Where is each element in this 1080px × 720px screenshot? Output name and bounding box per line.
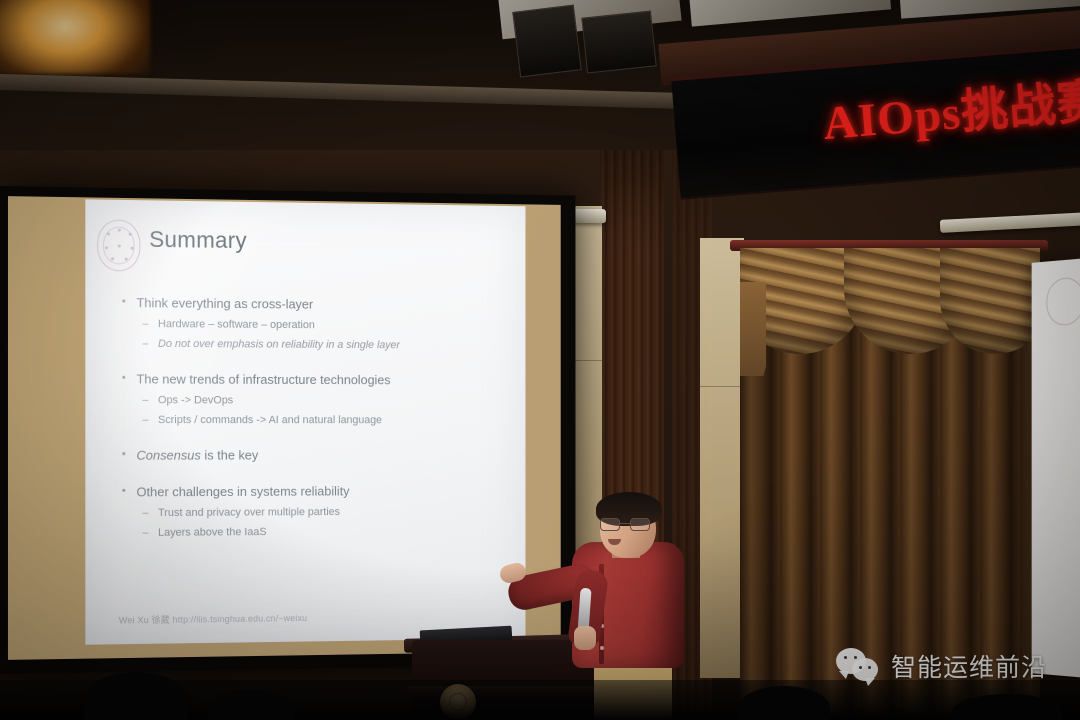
conference-photo-scene: AIOps挑战赛 bbox=[0, 0, 1080, 720]
sub-bullet-item: Ops -> DevOps bbox=[119, 393, 518, 409]
sub-bullet-item: Layers above the IaaS bbox=[119, 523, 518, 541]
bullet-item: Other challenges in systems reliability bbox=[119, 482, 518, 501]
bullet-group: Consensus is the key bbox=[119, 446, 518, 464]
slide-bullet-list: Think everything as cross-layer Hardware… bbox=[119, 294, 518, 560]
bullet-item-rest: is the key bbox=[201, 448, 258, 463]
presenter-right-hand bbox=[574, 626, 596, 650]
ceiling-warm-light bbox=[0, 0, 150, 74]
bullet-item: The new trends of infrastructure technol… bbox=[119, 371, 518, 390]
sub-bullet-item: Do not over emphasis on reliability in a… bbox=[119, 337, 518, 354]
curtain-valance bbox=[740, 248, 1040, 376]
stage-light-rig-2 bbox=[581, 10, 656, 73]
projection-screen-frame: Summary Think everything as cross-layer … bbox=[0, 186, 575, 674]
bullet-group: Think everything as cross-layer Hardware… bbox=[119, 294, 518, 354]
sub-bullet-item: Scripts / commands -> AI and natural lan… bbox=[119, 413, 518, 428]
bullet-item: Think everything as cross-layer bbox=[119, 294, 518, 315]
sub-bullet-item: Hardware – software – operation bbox=[119, 317, 518, 335]
slide-title: Summary bbox=[149, 226, 247, 254]
stage-light-rig-1 bbox=[512, 4, 582, 77]
wechat-watermark: 智能运维前沿 bbox=[836, 648, 1047, 684]
curtain-swag bbox=[940, 248, 1040, 354]
sub-bullet-item: Trust and privacy over multiple parties bbox=[119, 504, 518, 521]
tsinghua-university-seal-icon bbox=[1046, 276, 1080, 326]
slide-footer-attribution: Wei Xu 徐葳 http://iiis.tsinghua.edu.cn/~w… bbox=[119, 610, 307, 626]
wechat-account-name: 智能运维前沿 bbox=[891, 648, 1047, 684]
eyeglasses-icon bbox=[600, 518, 652, 531]
curtain-jabot bbox=[740, 282, 766, 376]
bullet-group: The new trends of infrastructure technol… bbox=[119, 371, 518, 429]
tsinghua-university-seal-icon bbox=[97, 219, 140, 271]
projection-screen-surface: Summary Think everything as cross-layer … bbox=[8, 196, 561, 660]
ceiling-panel-2 bbox=[689, 0, 891, 27]
bullet-group: Other challenges in systems reliability … bbox=[119, 482, 518, 541]
bullet-emphasis-word: Consensus bbox=[136, 448, 200, 463]
secondary-projection-screen bbox=[1032, 258, 1080, 678]
ceiling-beam bbox=[0, 73, 740, 110]
bullet-item: Consensus is the key bbox=[119, 446, 518, 464]
presentation-slide: Summary Think everything as cross-layer … bbox=[85, 199, 525, 644]
wechat-logo-icon bbox=[836, 648, 882, 684]
